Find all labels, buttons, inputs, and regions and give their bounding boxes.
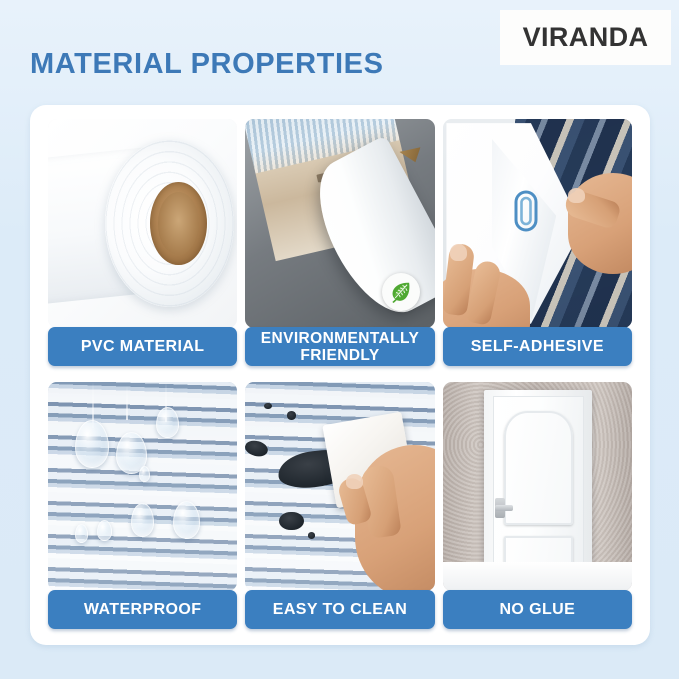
feature-cell-waterproof[interactable]: WATERPROOF [48, 378, 237, 635]
door-handle-lever [495, 505, 513, 511]
fingernail [346, 474, 363, 489]
water-droplet [75, 420, 109, 468]
water-droplet [75, 524, 88, 543]
feature-label-text: EASY TO CLEAN [273, 601, 407, 618]
stain [308, 532, 316, 538]
feature-label-text: SELF-ADHESIVE [471, 338, 604, 355]
stain [264, 403, 272, 409]
feature-image-waterproof [48, 382, 237, 591]
door-panel-top [504, 411, 573, 525]
brand-logo-text: VIRANDA [523, 22, 649, 53]
feature-label-text: WATERPROOF [84, 601, 201, 618]
feature-cell-no-glue[interactable]: NO GLUE [443, 378, 632, 635]
water-droplet [173, 501, 200, 539]
infographic-stage: VIRANDA MATERIAL PROPERTIES PVC MATERIAL [0, 0, 679, 679]
paperclip-icon [511, 188, 541, 239]
brand-logo: VIRANDA [500, 10, 671, 65]
feature-grid: PVC MATERIAL [48, 115, 632, 635]
page-title: MATERIAL PROPERTIES [30, 48, 384, 81]
feature-card: PVC MATERIAL [30, 105, 650, 645]
feature-image-pvc-material [48, 119, 237, 328]
fingernail [568, 188, 585, 203]
feature-label-environmentally-friendly: ENVIRONMENTALLY FRIENDLY [245, 327, 434, 366]
feature-cell-self-adhesive[interactable]: SELF-ADHESIVE [443, 115, 632, 372]
feature-label-text: ENVIRONMENTALLY FRIENDLY [261, 330, 419, 364]
door-frame [484, 390, 592, 582]
door [493, 396, 584, 581]
feature-label-waterproof: WATERPROOF [48, 590, 237, 629]
pvc-roll-core-inner [158, 192, 200, 255]
feature-cell-environmentally-friendly[interactable]: ENVIRONMENTALLY FRIENDLY [245, 115, 434, 372]
eco-badge [382, 273, 420, 311]
feature-image-no-glue [443, 382, 632, 591]
feature-image-easy-to-clean [245, 382, 434, 591]
leaf-icon [388, 279, 414, 305]
feature-cell-easy-to-clean[interactable]: EASY TO CLEAN [245, 378, 434, 635]
feature-label-pvc-material: PVC MATERIAL [48, 327, 237, 366]
stain [287, 411, 296, 419]
feature-image-environmentally-friendly [245, 119, 434, 328]
water-droplet [156, 407, 179, 438]
water-droplet [131, 503, 154, 536]
feature-label-text: PVC MATERIAL [81, 338, 205, 355]
feature-label-no-glue: NO GLUE [443, 590, 632, 629]
feature-label-easy-to-clean: EASY TO CLEAN [245, 590, 434, 629]
skirting-board [443, 562, 632, 591]
feature-label-text: NO GLUE [499, 601, 575, 618]
feature-cell-pvc-material[interactable]: PVC MATERIAL [48, 115, 237, 372]
feature-image-self-adhesive [443, 119, 632, 328]
fingernail [450, 244, 467, 261]
feature-label-self-adhesive: SELF-ADHESIVE [443, 327, 632, 366]
